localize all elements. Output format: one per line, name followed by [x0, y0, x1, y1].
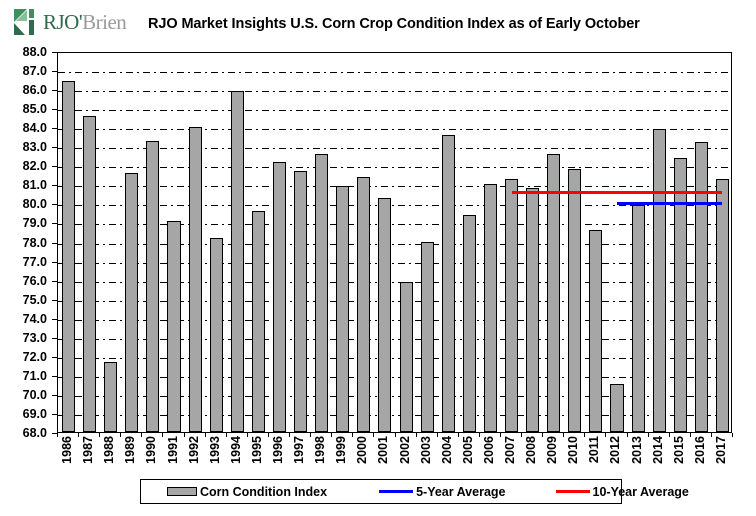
x-axis-tick	[352, 433, 353, 437]
x-axis-tick-label-1991: 1991	[167, 436, 180, 464]
legend-item-corn-condition-index: Corn Condition Index	[167, 485, 327, 499]
average-line-10-year-average	[512, 191, 723, 194]
x-axis-tick	[500, 433, 501, 437]
x-axis-tick	[226, 433, 227, 437]
x-axis-tick	[648, 433, 649, 437]
x-axis-tick-label-2000: 2000	[356, 436, 369, 464]
x-axis-tick	[690, 433, 691, 437]
x-axis-tick-label-2015: 2015	[673, 436, 686, 464]
x-axis-tick	[99, 433, 100, 437]
y-axis-ticks	[0, 52, 57, 433]
x-axis-tick	[669, 433, 670, 437]
x-axis-tick-label-1988: 1988	[103, 436, 116, 464]
x-axis-tick-label-2016: 2016	[694, 436, 707, 464]
x-axis-tick-label-2008: 2008	[525, 436, 538, 464]
x-axis-tick-label-2014: 2014	[652, 436, 665, 464]
x-axis-tick	[437, 433, 438, 437]
x-axis-tick	[627, 433, 628, 437]
logo-text-rjo: RJO	[43, 10, 79, 34]
x-axis-tick-label-2011: 2011	[588, 436, 601, 463]
legend-label-10-year-average: 10-Year Average	[593, 485, 689, 499]
logo-wordmark: RJO'Brien	[43, 10, 126, 35]
x-axis-tick	[542, 433, 543, 437]
x-axis-tick-label-2009: 2009	[546, 436, 559, 464]
rjo-brien-logo-mark	[14, 9, 40, 35]
x-axis-tick	[331, 433, 332, 437]
x-axis-tick-label-1995: 1995	[251, 436, 264, 464]
x-axis-tick	[184, 433, 185, 437]
x-axis-tick	[310, 433, 311, 437]
x-axis-tick-label-1990: 1990	[145, 436, 158, 464]
x-axis-tick	[205, 433, 206, 437]
x-axis-tick	[521, 433, 522, 437]
x-axis-tick	[711, 433, 712, 437]
x-axis-tick-label-2006: 2006	[483, 436, 496, 464]
x-axis-tick	[458, 433, 459, 437]
x-axis-tick-label-2002: 2002	[399, 436, 412, 464]
x-axis-tick-label-1998: 1998	[314, 436, 327, 464]
x-axis-tick-label-2012: 2012	[609, 436, 622, 464]
chart-header: RJO'Brien RJO Market Insights U.S. Corn …	[0, 0, 756, 44]
x-axis-tick-label-2003: 2003	[420, 436, 433, 464]
legend-swatch-bar-icon	[167, 487, 197, 496]
x-axis-tick-label-1994: 1994	[230, 436, 243, 464]
x-axis-tick-label-2010: 2010	[567, 436, 580, 464]
x-axis-tick	[584, 433, 585, 437]
x-axis-tick	[289, 433, 290, 437]
x-axis-tick	[268, 433, 269, 437]
chart-legend: Corn Condition Index 5-Year Average 10-Y…	[140, 479, 622, 504]
x-axis-tick-label-1992: 1992	[188, 436, 201, 464]
x-axis-tick-label-2001: 2001	[377, 436, 390, 464]
x-axis-tick-label-1987: 1987	[82, 436, 95, 464]
legend-label-5-year-average: 5-Year Average	[416, 485, 505, 499]
x-axis-tick-label-1999: 1999	[335, 436, 348, 464]
legend-item-10-year-average: 10-Year Average	[556, 485, 689, 499]
plot-area	[57, 52, 732, 433]
x-axis-tick	[141, 433, 142, 437]
x-axis-tick-label-1997: 1997	[293, 436, 306, 464]
x-axis-tick-label-2004: 2004	[441, 436, 454, 464]
x-axis-tick	[605, 433, 606, 437]
x-axis-tick-label-2013: 2013	[631, 436, 644, 464]
legend-swatch-line-blue-icon	[379, 490, 413, 493]
x-axis-tick	[732, 433, 733, 437]
x-axis-tick	[395, 433, 396, 437]
x-axis-tick-label-1989: 1989	[124, 436, 137, 464]
average-line-5-year-average	[617, 202, 722, 205]
x-axis-tick	[78, 433, 79, 437]
x-axis-tick-label-2017: 2017	[715, 436, 728, 464]
x-axis-tick-label-2005: 2005	[462, 436, 475, 464]
x-axis-tick	[120, 433, 121, 437]
x-axis-tick-label-2007: 2007	[504, 436, 517, 464]
x-axis-tick	[57, 433, 58, 437]
x-axis-tick	[162, 433, 163, 437]
x-axis-tick	[373, 433, 374, 437]
chart-title: RJO Market Insights U.S. Corn Crop Condi…	[148, 16, 748, 32]
legend-label-corn-condition-index: Corn Condition Index	[200, 485, 327, 499]
legend-swatch-line-red-icon	[556, 490, 590, 493]
x-axis-tick	[247, 433, 248, 437]
x-axis-tick-label-1986: 1986	[61, 436, 74, 464]
average-lines	[58, 53, 731, 432]
legend-item-5-year-average: 5-Year Average	[379, 485, 505, 499]
rjo-brien-logo: RJO'Brien	[14, 7, 126, 37]
logo-text-brien: Brien	[82, 10, 126, 34]
x-axis-tick-label-1996: 1996	[272, 436, 285, 464]
x-axis-labels: 1986198719881989199019911992199319941995…	[57, 436, 732, 482]
x-axis-tick	[416, 433, 417, 437]
x-axis-tick-label-1993: 1993	[209, 436, 222, 464]
x-axis-tick	[563, 433, 564, 437]
x-axis-tick	[479, 433, 480, 437]
